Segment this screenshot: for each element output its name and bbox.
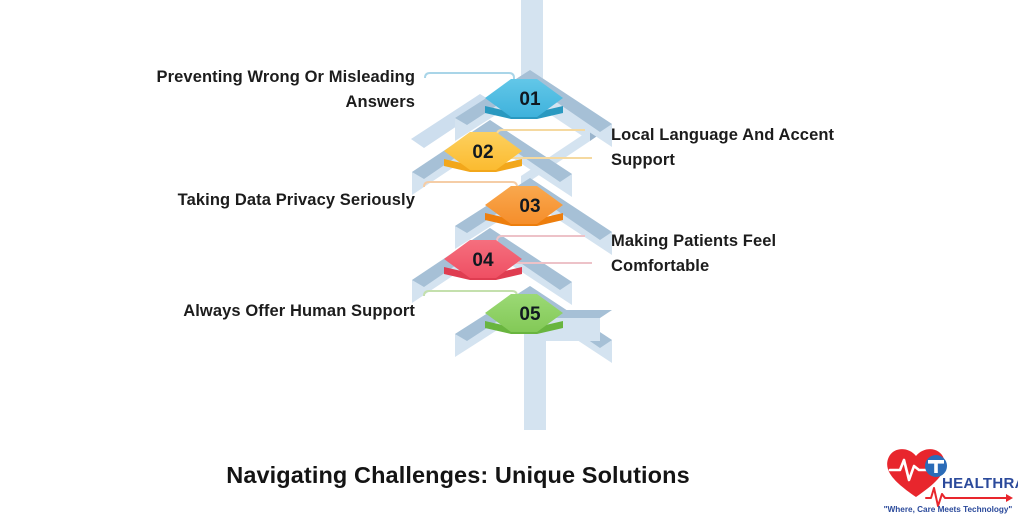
step-label-04: Making Patients Feel Comfortable bbox=[611, 229, 911, 279]
hexagon-step-03[interactable]: 03 bbox=[485, 186, 563, 226]
hexagon-step-05[interactable]: 05 bbox=[485, 294, 563, 334]
brand-logo: HEALTHRAY "Where, Care Meets Technology" bbox=[878, 444, 1018, 516]
step-label-01: Preventing Wrong Or Misleading Answers bbox=[100, 65, 415, 115]
hexagon-number-05: 05 bbox=[519, 304, 541, 325]
step-label-05: Always Offer Human Support bbox=[110, 299, 415, 324]
hexagon-number-03: 03 bbox=[519, 196, 540, 217]
page-title: Navigating Challenges: Unique Solutions bbox=[0, 462, 916, 489]
process-diagram: 01 02 03 04 bbox=[0, 0, 1024, 430]
step-label-02: Local Language And Accent Support bbox=[611, 123, 911, 173]
hexagon-number-04: 04 bbox=[472, 250, 494, 271]
hexagon-number-01: 01 bbox=[519, 89, 541, 110]
brand-tagline: "Where, Care Meets Technology" bbox=[884, 505, 1013, 514]
brand-name: HEALTHRAY bbox=[942, 475, 1018, 492]
hexagon-number-02: 02 bbox=[472, 142, 493, 163]
medical-cross-icon bbox=[925, 455, 947, 477]
infographic-canvas: 01 02 03 04 bbox=[0, 0, 1024, 529]
step-label-03: Taking Data Privacy Seriously bbox=[110, 188, 415, 213]
